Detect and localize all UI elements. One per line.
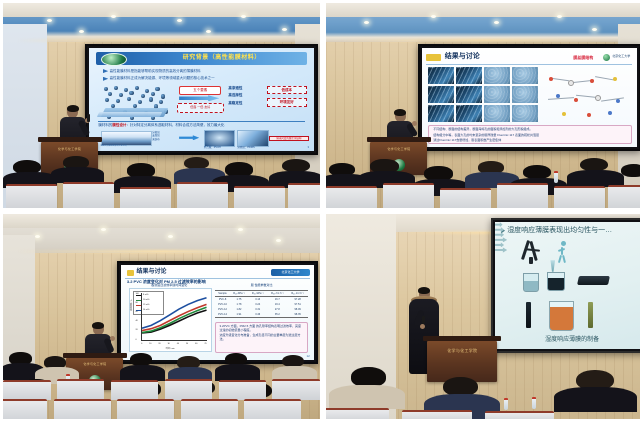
sem-image — [512, 86, 538, 103]
sem-image: 表面-3 — [428, 105, 454, 122]
key-phrase-label: 低廉·一低·友好 — [177, 103, 224, 112]
slide-notes: 不同结构、断面的结构差异，断面海绵孔的面貌和添加剂的大孔形貌组成。 结构组分中等… — [428, 125, 632, 144]
flow-arrow-icon — [179, 135, 199, 140]
slide-red-tag: 膜丝膜结构 — [573, 55, 593, 60]
slide-rule — [426, 64, 632, 65]
cove-light — [339, 39, 631, 42]
slide-title: 结果与讨论 — [137, 269, 167, 276]
seat-back — [120, 187, 171, 208]
photo-collage: 研究背景（高性能膜材料） 高性能膜材料是指能够帮助实现物质的高效分离的薄膜材料 … — [0, 0, 640, 422]
seat-back — [234, 186, 285, 208]
university-name: 北京化工大学 — [282, 271, 300, 275]
flow-arrow-icon — [495, 222, 503, 227]
seat-back — [219, 380, 267, 400]
molecular-structure-diagram — [544, 67, 632, 122]
ceiling-soffit — [326, 3, 640, 17]
podium-text: 化学与化工学院 — [41, 148, 98, 152]
table-cell: 0.46 — [248, 312, 267, 318]
y-tick: 20 — [135, 329, 138, 332]
university-name: 北京化工大学 — [612, 55, 630, 59]
seat-back — [117, 399, 174, 419]
sem-label: 表面-2 — [429, 86, 435, 89]
seat-back — [165, 379, 213, 401]
flow-arrow-icon — [495, 242, 504, 247]
slide-header: 结果与讨论 膜丝膜结构 北京化工大学 — [426, 52, 632, 64]
podium-top — [423, 336, 501, 341]
seat-back — [288, 183, 320, 208]
panel-top-left[interactable]: 研究背景（高性能膜材料） 高性能膜材料是指能够帮助实现物质的高效分离的薄膜材料 … — [3, 3, 320, 208]
downlight-icon — [276, 239, 281, 242]
highlight-item: 低成本 — [267, 86, 307, 94]
slide-bullet: 高性能膜材料正成为解决能源、环境等领域重大问题的核心技术之一 — [110, 76, 303, 80]
seat-back — [497, 183, 548, 208]
sem-image — [512, 105, 538, 122]
seat-back — [440, 188, 491, 208]
projection-screen[interactable]: 结果与讨论 膜丝膜结构 北京化工大学 表面-1 断面-1 表面-2 断面-2 — [418, 44, 640, 151]
y-tick: 0 — [135, 339, 138, 342]
highlight-list: 低成本 环境友好 — [267, 86, 307, 111]
panel-bottom-left[interactable]: 结果与讨论 北京化工大学 3.2 PVC 浓度变化对 PM 2.5 过滤效率的影… — [3, 214, 320, 419]
sem-label: 表面-3 — [429, 105, 435, 108]
audience — [326, 155, 640, 208]
projection-screen[interactable]: 研究背景（高性能膜材料） 高性能膜材料是指能够帮助实现物质的高效分离的薄膜材料 … — [85, 44, 317, 155]
seat-back — [54, 399, 111, 419]
panel-bottom-right[interactable]: 湿度响应薄膜表现出均匀性与一… — [326, 214, 640, 419]
downlight-icon — [35, 235, 40, 238]
section-line-rest: ：针对特定分离体系选取材料，材料合成方法简便，效力最大化 — [126, 123, 224, 127]
red-callout: 纳米尺度的膜次序结构 — [269, 136, 309, 141]
bullet-arrow-icon — [103, 69, 108, 73]
sem-label: 表面-1 — [429, 67, 435, 70]
seat-back — [3, 399, 47, 419]
seat-back — [402, 410, 472, 419]
property-list: 高渗透性 高选择性 高稳定性 — [228, 86, 264, 108]
slide-results-discussion: 结果与讨论 膜丝膜结构 北京化工大学 表面-1 断面-1 表面-2 断面-2 — [422, 48, 637, 147]
film-strip-green — [588, 302, 593, 327]
slide-page-number: 3 — [307, 146, 309, 150]
downlight-icon — [282, 28, 287, 31]
beaker-clear — [523, 273, 539, 292]
downlight-icon — [168, 235, 173, 238]
presenter-hand — [420, 324, 425, 329]
sem-image-grid: 表面-1 断面-1 表面-2 断面-2 表面-3 断面-3 — [428, 67, 538, 122]
sem-image — [484, 105, 510, 122]
layer-label: 无纺布 — [152, 138, 177, 141]
slide-divider — [98, 121, 304, 122]
sem-image — [484, 86, 510, 103]
title-marker — [426, 54, 440, 60]
seat-back — [326, 408, 389, 419]
y-tick: 40 — [135, 320, 138, 323]
property-item: 高渗透性 — [228, 86, 264, 90]
slide-humidity-film: 湿度响应薄膜表现出均匀性与一… — [495, 222, 640, 349]
presenter-hair — [418, 287, 430, 294]
cove-light — [16, 39, 308, 42]
audience-shoulders — [215, 364, 259, 381]
seat-back — [177, 182, 228, 208]
x-tick: 20 — [158, 343, 160, 346]
beaker-dark-solution — [547, 272, 564, 292]
cove-light — [16, 250, 308, 253]
presenter-hair — [394, 109, 406, 116]
chart-plot-area — [141, 293, 207, 342]
image-label-a: 复合膜：PVOH — [204, 146, 221, 149]
seat-back — [244, 399, 301, 419]
downlight-icon — [592, 28, 597, 31]
microphone-icon — [87, 114, 90, 122]
x-tick: 60 — [195, 343, 197, 346]
projection-screen[interactable]: 湿度响应薄膜表现出均匀性与一… — [491, 218, 640, 353]
y-tick: 100 — [135, 293, 138, 296]
university-logo: 北京化工大学 — [603, 54, 630, 61]
flow-arrow-icon — [495, 247, 507, 252]
slide-title: 研究背景（高性能膜材料） — [139, 53, 305, 63]
slide-bullet: 高性能膜材料是指能够帮助实现物质的高效分离的薄膜材料 — [110, 69, 303, 73]
podium-text: 化学与化工学院 — [370, 148, 427, 152]
seat-back — [383, 183, 434, 208]
podium-top — [367, 137, 431, 142]
seat-back — [181, 399, 238, 419]
y-tick: 60 — [135, 311, 138, 314]
note-item: 结构组分中等，表面大孔的均未复杂的膜厚微量 Fluorinic 117 表面的疏… — [433, 134, 627, 138]
seat-back — [326, 186, 377, 208]
audience — [3, 155, 320, 208]
presenter-hand — [412, 121, 417, 126]
membrane-photo-b — [237, 130, 268, 147]
y-tick: 80 — [135, 302, 138, 305]
podium-text: 化学与化工学院 — [427, 348, 497, 353]
x-tick: 50 — [186, 343, 188, 346]
note-item: 3.2PVC 方面，PM2.5 方面 的孔隙率结构表明过滤效率，亮度过渡的初始值… — [219, 325, 303, 333]
ceiling-soffit — [3, 214, 320, 228]
section-line: 膜材料的膜性设计：针对特定分离体系选取材料，材料合成方法简便，效力最大化 — [98, 123, 304, 127]
microphone-icon — [422, 316, 425, 324]
seat-back — [608, 185, 640, 208]
x-tick: 30 — [168, 343, 170, 346]
table-cell: 1.91 — [230, 312, 249, 318]
film-strip-dark — [526, 302, 531, 327]
ceiling-soffit — [3, 3, 320, 17]
university-emblem-icon — [603, 54, 610, 61]
membrane-slab-lower — [97, 112, 162, 117]
water-bottle — [532, 397, 536, 409]
downlight-icon — [206, 30, 211, 33]
seat-back — [554, 186, 605, 208]
audience — [326, 362, 640, 419]
table-cell: PVC-14 — [215, 312, 229, 318]
property-item: 高选择性 — [228, 93, 264, 97]
seat-back — [485, 411, 555, 419]
seat-back — [272, 379, 320, 401]
chart-y-label: 过滤效率 / % — [131, 299, 134, 310]
audience-head — [621, 164, 640, 177]
chart-y-ticks: 100 80 60 40 20 0 — [135, 293, 138, 342]
x-tick: 10 — [149, 343, 151, 346]
casting-plate — [577, 276, 610, 285]
audience-shoulders — [329, 385, 405, 409]
slide-notes: 3.2PVC 方面，PM2.5 方面 的孔隙率结构表明过滤效率，亮度过渡的初始值… — [215, 322, 307, 353]
title-marker — [127, 270, 134, 276]
membrane-photo-a — [204, 130, 235, 147]
data-table: Sample R₁₀ /kPa⁻¹ R₂₀ /kPa⁻¹ R₃₀ /m²·h⁻¹… — [215, 290, 307, 318]
table-cell: 98.35 — [288, 312, 308, 318]
seat-back — [57, 379, 105, 401]
panel-top-right[interactable]: 结果与讨论 膜丝膜结构 北京化工大学 表面-1 断面-1 表面-2 断面-2 — [326, 3, 640, 208]
table-cell: 35.2 — [267, 312, 287, 318]
x-tick: 40 — [177, 343, 179, 346]
membrane-layer-labels: 分离层 支撑层 无纺布 — [152, 131, 177, 141]
note-item: 不同结构、断面的结构差异，断面海绵孔的面貌和添加剂的大孔形貌组成。 — [433, 128, 627, 132]
sem-image: 表面-1 — [428, 67, 454, 84]
sem-label: 断面-3 — [457, 105, 463, 108]
slide-research-background: 研究背景（高性能膜材料） 高性能膜材料是指能够帮助实现物质的高效分离的薄膜材料 … — [89, 48, 313, 151]
audience-shoulders — [51, 167, 105, 183]
jar-orange-solution — [549, 301, 574, 331]
chart-series-svg — [142, 293, 207, 341]
seat-back — [6, 184, 57, 208]
presenter-hand — [110, 336, 115, 341]
table-row: PVC-14 1.91 0.46 35.2 98.35 — [215, 312, 307, 318]
note-item: 浓度升级变化分布准备，生成孔径不同的主要单层为透过层方法。 — [219, 334, 303, 342]
section-line-prefix: 膜材料的 — [98, 123, 112, 127]
right-arrow-icon — [179, 95, 219, 101]
stirring-apparatus-icon — [521, 240, 546, 268]
audience-head — [351, 367, 386, 387]
key-factor-label: 五个要素 — [179, 86, 221, 95]
audience-shoulders — [554, 387, 636, 412]
sem-image: 断面-2 — [456, 86, 482, 103]
sem-image — [484, 67, 510, 84]
table-caption: 膜 性能参数对比 — [215, 284, 307, 288]
sem-image: 表面-2 — [428, 86, 454, 103]
note-item: 通过Fluorinic 117含量增加，膜表面积数产生密集体 — [433, 139, 627, 143]
slide-results-chart: 结果与讨论 北京化工大学 3.2 PVC 浓度变化对 PM 2.5 过滤效率的影… — [121, 265, 314, 359]
downlight-icon — [79, 30, 84, 33]
presenter-hair — [67, 105, 79, 112]
slide-caption: 国家天然橡胶新混合工业公司 — [101, 145, 127, 148]
chart-line-12wt% — [142, 304, 207, 330]
table-body: PVC-8 1.75 0.13 16.7 97.28 PVC-10 1.78 0… — [215, 296, 307, 317]
line-chart: 8 wt% 10 wt% 12 wt% 14 wt% 过滤效率 / % 时间 /… — [129, 288, 212, 352]
projection-screen[interactable]: 结果与讨论 北京化工大学 3.2 PVC 浓度变化对 PM 2.5 过滤效率的影… — [117, 261, 318, 363]
slide-title: 结果与讨论 — [445, 53, 480, 61]
image-label-b: 分离层：PDMS — [237, 146, 254, 149]
audience — [3, 349, 320, 419]
sem-label: 断面-2 — [457, 86, 463, 89]
x-tick: 70 — [204, 343, 206, 346]
school-logo-icon — [101, 53, 128, 66]
presenter-hair — [92, 322, 104, 329]
chart-x-ticks: 0 10 20 30 40 50 60 70 — [141, 343, 207, 346]
highlight-item: 环境友好 — [267, 98, 307, 106]
section-line-keyword: 膜性设计 — [112, 123, 126, 127]
slide-headline: 湿度响应薄膜表现出均匀性与一… — [507, 227, 640, 235]
sem-label: 断面-1 — [457, 67, 463, 70]
sem-image — [512, 67, 538, 84]
seat-back — [63, 182, 114, 208]
flow-arrow-icon — [495, 237, 507, 242]
x-tick: 0 — [141, 343, 142, 346]
water-bottle — [504, 398, 508, 410]
seat-back — [111, 380, 159, 400]
seat-back — [3, 380, 51, 400]
flow-arrow-icon — [495, 232, 504, 237]
sem-image: 断面-3 — [456, 105, 482, 122]
bullet-arrow-icon — [103, 77, 108, 81]
university-badge: 北京化工大学 — [271, 269, 310, 277]
data-table-block: 膜 性能参数对比 Sample R₁₀ /kPa⁻¹ R₂₀ /kPa⁻¹ R₃… — [215, 284, 307, 320]
slide-caption: 湿度响应薄膜的制备 — [495, 337, 640, 344]
water-bottle — [554, 171, 558, 183]
podium-top — [38, 137, 102, 142]
property-item: 高稳定性 — [228, 101, 264, 105]
sem-image: 断面-1 — [456, 67, 482, 84]
audience-shoulders — [120, 365, 164, 382]
stick-figure-icon — [555, 241, 569, 264]
